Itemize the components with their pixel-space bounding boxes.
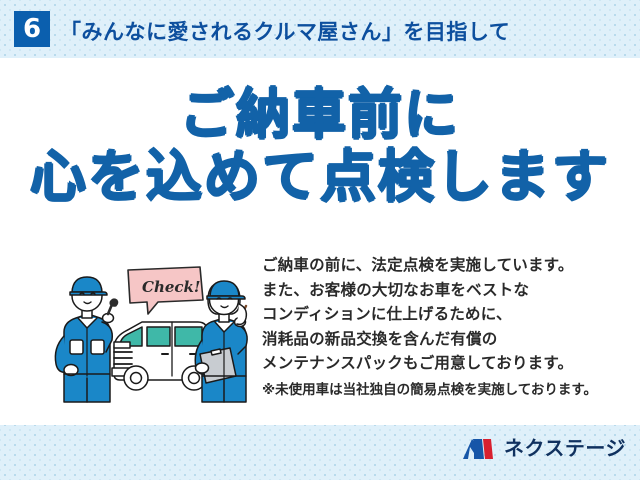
promo-banner: 6 「みんなに愛されるクルマ屋さん」を目指して ご納車前に 心を込めて点検します… <box>0 0 640 480</box>
body-line: ご納車の前に、法定点検を実施しています。 <box>262 254 632 279</box>
body-line: 消耗品の新品交換を含んだ有償の <box>262 328 632 353</box>
header: 6 「みんなに愛されるクルマ屋さん」を目指して <box>0 0 640 58</box>
logo-n-mark <box>462 437 496 461</box>
section-number-badge: 6 <box>14 11 50 47</box>
header-title: 「みんなに愛されるクルマ屋さん」を目指して <box>60 16 510 46</box>
male-mechanic-figure <box>55 277 117 402</box>
brand-name-label: ネクステージ <box>504 439 626 459</box>
headline-line-2: 心を込めて点検します <box>0 146 640 208</box>
content-panel: ご納車前に 心を込めて点検します ご納車の前に、法定点検を実施しています。 また… <box>0 58 640 425</box>
section-number-label: 6 <box>23 16 41 42</box>
speech-bubble-label: Check! <box>142 278 201 296</box>
body-copy-block: ご納車の前に、法定点検を実施しています。 また、お客様の大切なお車をベストな コ… <box>262 254 632 401</box>
body-line: コンディションに仕上げるために、 <box>262 303 632 328</box>
footer: ネクステージ <box>0 425 640 480</box>
mechanics-illustration: Check! <box>50 256 260 406</box>
headline-block: ご納車前に 心を込めて点検します <box>0 84 640 208</box>
headline-line-1: ご納車前に <box>0 84 640 146</box>
body-note: ※未使用車は当社独自の簡易点検を実施しております。 <box>262 379 632 401</box>
van-illustration <box>112 322 208 390</box>
nextage-logo: ネクステージ <box>462 437 626 461</box>
check-speech-bubble: Check! <box>128 267 203 314</box>
body-line: メンテナンスパックもご用意しております。 <box>262 352 632 377</box>
body-line: また、お客様の大切なお車をベストな <box>262 279 632 304</box>
